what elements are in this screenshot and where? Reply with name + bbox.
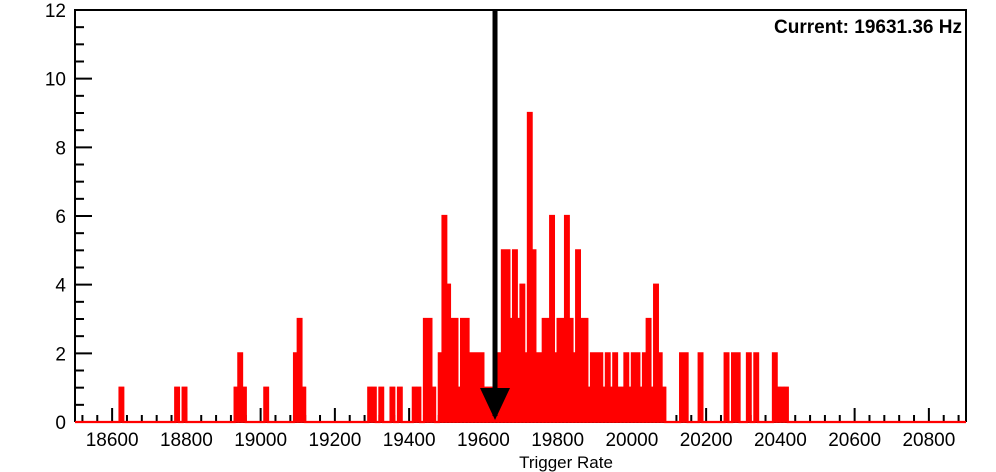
y-axis-tick-label: 0 xyxy=(55,413,66,434)
x-axis-tick-label: 20600 xyxy=(828,430,881,451)
x-axis-tick-label: 20000 xyxy=(605,430,658,451)
x-axis-tick-label: 18800 xyxy=(160,430,213,451)
current-rate-label: Current: 19631.36 Hz xyxy=(774,17,962,39)
y-axis-tick-label: 10 xyxy=(45,70,66,91)
trigger-rate-histogram-page: 0246810121860018800190001920019400196001… xyxy=(0,0,996,472)
x-axis-tick-label: 18600 xyxy=(86,430,139,451)
histogram-outline xyxy=(75,113,966,422)
histogram-bins xyxy=(75,113,966,422)
x-axis-tick-label: 19000 xyxy=(234,430,287,451)
x-axis-tick-label: 20400 xyxy=(754,430,807,451)
histogram-plot: 0246810121860018800190001920019400196001… xyxy=(0,0,996,472)
x-axis-tick-label: 19200 xyxy=(308,430,361,451)
x-axis-tick-label: 20800 xyxy=(902,430,955,451)
y-axis-tick-label: 8 xyxy=(55,138,66,159)
y-axis-tick-label: 4 xyxy=(55,276,66,297)
y-axis-tick-label: 12 xyxy=(45,1,66,22)
x-axis-title: Trigger Rate xyxy=(519,453,613,472)
x-axis-tick-label: 19600 xyxy=(457,430,510,451)
x-axis-tick-label: 19800 xyxy=(531,430,584,451)
x-axis-tick-label: 19400 xyxy=(383,430,436,451)
y-axis-tick-label: 6 xyxy=(55,207,66,228)
y-axis-tick-label: 2 xyxy=(55,344,66,365)
x-axis-tick-label: 20200 xyxy=(680,430,733,451)
